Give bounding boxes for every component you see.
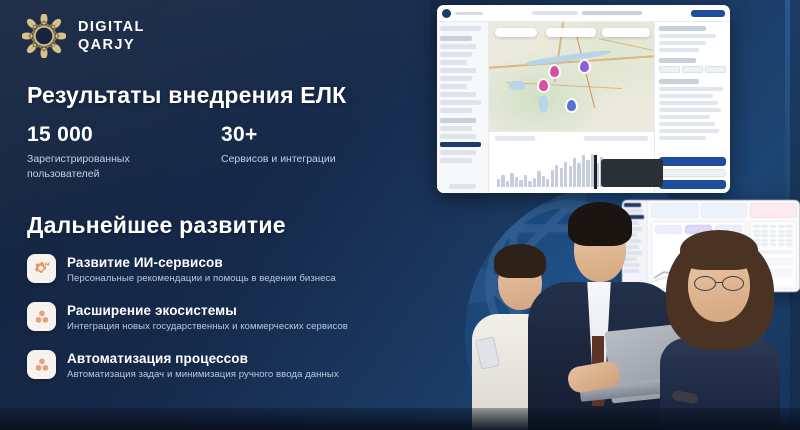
section-title-future: Дальнейшее развитие bbox=[27, 212, 286, 239]
mockup-sidebar-item[interactable] bbox=[440, 84, 467, 89]
people-photo bbox=[470, 186, 800, 430]
mockup-list-item[interactable] bbox=[659, 136, 706, 140]
mockup-sidebar-item[interactable] bbox=[440, 52, 472, 57]
hexagon-cluster-icon bbox=[27, 350, 56, 379]
feature-list: AI Развитие ИИ-сервисов Персональные рек… bbox=[27, 254, 417, 398]
mockup-sidebar-item[interactable] bbox=[440, 134, 476, 139]
mockup-map-dropdown[interactable] bbox=[602, 28, 650, 37]
mockup-map-filter-chip[interactable] bbox=[495, 28, 537, 37]
mockup-search-input[interactable] bbox=[440, 26, 481, 31]
list-item: Автоматизация процессов Автоматизация за… bbox=[27, 350, 417, 380]
mockup-sidebar-item[interactable] bbox=[440, 100, 481, 105]
mockup-bar-chart-panel bbox=[489, 131, 654, 193]
mockup-sidebar-item[interactable] bbox=[440, 76, 472, 81]
feature-title: Автоматизация процессов bbox=[67, 351, 339, 366]
mockup-sidebar-item-active[interactable] bbox=[440, 142, 481, 147]
mockup-map-canvas[interactable] bbox=[489, 22, 654, 131]
mockup-panel-input[interactable] bbox=[659, 169, 726, 177]
mockup-list-item[interactable] bbox=[659, 108, 721, 112]
stat-item: 30+ Сервисов и интеграции bbox=[221, 123, 336, 182]
mockup-sidebar-item[interactable] bbox=[440, 44, 476, 49]
bottom-gradient-band bbox=[0, 408, 800, 430]
right-accent-stripe bbox=[785, 0, 790, 205]
feature-subtitle: Интеграция новых государственных и комме… bbox=[67, 321, 348, 332]
feature-subtitle: Персональные рекомендации и помощь в вед… bbox=[67, 273, 336, 284]
mockup-list-item[interactable] bbox=[659, 122, 715, 126]
stat-value: 15 000 bbox=[27, 123, 157, 147]
mockup-chart-tooltip bbox=[601, 159, 663, 187]
mockup-list-item[interactable] bbox=[659, 115, 710, 119]
stat-value: 30+ bbox=[221, 123, 336, 147]
mockup-sidebar bbox=[437, 22, 489, 193]
mockup-panel-heading bbox=[659, 58, 696, 63]
hexagon-cluster-glyph bbox=[33, 356, 51, 374]
mockup-chart-cursor bbox=[594, 155, 597, 189]
mockup-chart-title bbox=[495, 136, 535, 141]
brand-logo: DIGITAL QARJY bbox=[22, 14, 145, 58]
hexagon-cluster-icon bbox=[27, 302, 56, 331]
mockup-panel-heading bbox=[659, 26, 706, 31]
mockup-list-item[interactable] bbox=[659, 129, 719, 133]
mockup-title-bar-text bbox=[455, 12, 483, 15]
mockup-list-item[interactable] bbox=[659, 87, 723, 91]
brand-line-1: DIGITAL bbox=[78, 18, 145, 36]
mockup-right-panel bbox=[654, 22, 730, 193]
mockup-panel-heading bbox=[659, 79, 699, 84]
mockup-primary-action[interactable] bbox=[691, 10, 725, 17]
slide-root: DIGITAL QARJY Результаты внедрения ЕЛК 1… bbox=[0, 0, 800, 430]
mockup-list-item[interactable] bbox=[659, 101, 718, 105]
eyeglasses-right bbox=[722, 276, 744, 291]
stat-label: Зарегистрированных пользователей bbox=[27, 152, 157, 182]
mockup-breadcrumb bbox=[532, 11, 578, 15]
eyeglasses-left bbox=[694, 276, 716, 291]
hexagon-cluster-glyph bbox=[33, 308, 51, 326]
mockup-panel-button-primary[interactable] bbox=[659, 157, 726, 166]
mockup-sidebar-item[interactable] bbox=[440, 158, 472, 163]
mockup-sidebar-item[interactable] bbox=[440, 92, 476, 97]
ai-gear-glyph: AI bbox=[32, 259, 51, 278]
mockup-app-logo-icon bbox=[442, 9, 451, 18]
brand-line-2: QARJY bbox=[78, 36, 145, 54]
feature-subtitle: Автоматизация задач и минимизация ручног… bbox=[67, 369, 339, 380]
mockup-map-search[interactable] bbox=[546, 28, 596, 37]
ai-gear-icon: AI bbox=[27, 254, 56, 283]
feature-title: Расширение экосистемы bbox=[67, 303, 348, 318]
mockup-sidebar-item[interactable] bbox=[440, 68, 476, 73]
mockup-doc-title bbox=[582, 11, 642, 15]
list-item: AI Развитие ИИ-сервисов Персональные рек… bbox=[27, 254, 417, 284]
mockup-radio-option[interactable] bbox=[659, 48, 699, 52]
mockup-sidebar-section bbox=[440, 118, 476, 123]
mockup-titlebar bbox=[437, 5, 730, 22]
stats-group: 15 000 Зарегистрированных пользователей … bbox=[27, 123, 336, 182]
mockup-sidebar-item[interactable] bbox=[440, 126, 472, 131]
mockup-tabs[interactable] bbox=[659, 66, 726, 73]
mockup-list-item[interactable] bbox=[659, 94, 713, 98]
map-dashboard-screenshot bbox=[437, 5, 730, 193]
page-title: Результаты внедрения ЕЛК bbox=[27, 82, 346, 109]
octagon-star-logo-icon bbox=[22, 14, 66, 58]
mockup-radio-option[interactable] bbox=[659, 41, 706, 45]
mockup-chart-legend bbox=[584, 136, 648, 141]
mockup-sidebar-item[interactable] bbox=[440, 60, 467, 65]
svg-text:AI: AI bbox=[45, 262, 50, 268]
mockup-sidebar-item[interactable] bbox=[440, 108, 472, 113]
mockup-sidebar-item[interactable] bbox=[440, 150, 476, 155]
stat-item: 15 000 Зарегистрированных пользователей bbox=[27, 123, 157, 182]
stat-label: Сервисов и интеграции bbox=[221, 152, 336, 167]
list-item: Расширение экосистемы Интеграция новых г… bbox=[27, 302, 417, 332]
mockup-radio-option[interactable] bbox=[659, 34, 716, 38]
brand-wordmark: DIGITAL QARJY bbox=[78, 18, 145, 54]
feature-title: Развитие ИИ-сервисов bbox=[67, 255, 336, 270]
mockup-sidebar-section bbox=[440, 36, 472, 41]
